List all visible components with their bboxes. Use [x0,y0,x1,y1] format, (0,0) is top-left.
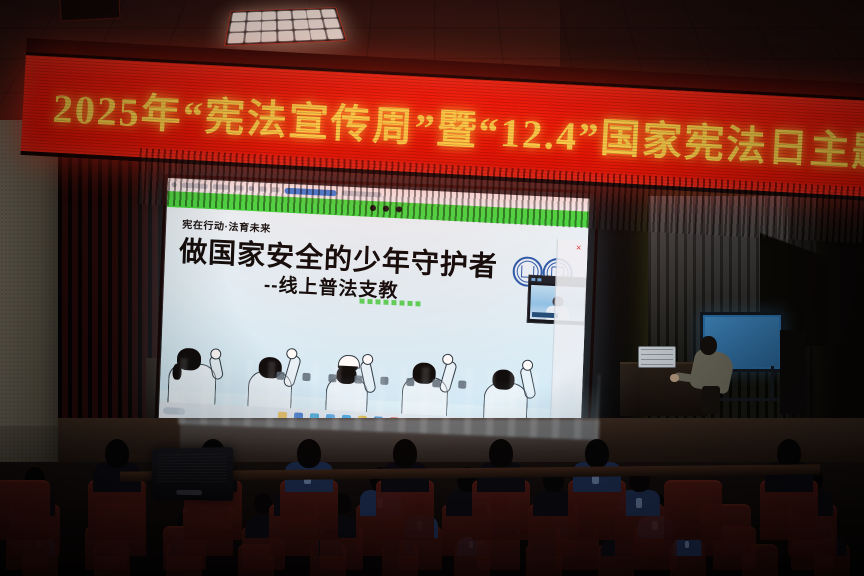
auditorium-seat [0,480,50,540]
audience-head [105,439,129,468]
recessed-grid-light-icon [224,7,347,46]
person-head [700,336,717,355]
light-cell [277,11,291,20]
audience-head [297,439,321,468]
uniform-stripe [636,498,642,508]
light-cell [278,31,294,42]
speaker-badge [176,490,202,495]
light-cell [292,10,307,19]
auditorium-seat [664,480,722,540]
child-fist [362,354,373,366]
person-legs [702,386,720,414]
audience-head [585,439,609,468]
light-cell [230,22,246,32]
light-cell [308,19,324,29]
av-control-panel [638,346,676,368]
light-cell [323,19,339,29]
light-cell [307,10,322,19]
light-cell [245,32,261,43]
light-cell [247,12,261,21]
right-pa-speaker [780,330,806,414]
light-cell [321,9,337,18]
light-cell [232,12,247,21]
light-cell [262,11,276,20]
child-fist [522,360,533,372]
technician-at-table [688,336,734,406]
light-cell [228,32,245,43]
light-cell [293,20,308,30]
uniform-stripe [685,541,689,548]
slide-subtitle: --线上普法支教 [264,270,400,304]
light-cell [262,31,277,42]
light-cell [326,29,343,39]
light-cell [310,29,327,40]
audience-head [393,439,417,468]
light-cell [262,21,276,31]
light-cell [278,20,293,30]
video-control-icon [531,278,535,281]
light-cell [294,30,310,41]
speaker-grill [157,453,226,484]
subtitle-underline [359,298,421,306]
audience-head [489,439,513,468]
light-cell [246,21,261,31]
ceiling-vent [59,0,120,22]
floor-wedge-speaker [152,447,233,501]
control-panel-rows [641,349,673,365]
auditorium-photo: 宪在行动·法育未来 做国家安全的少年守护者 --线上普法支教 ✕ [0,0,864,576]
person-hand [670,374,679,382]
close-icon[interactable]: ✕ [576,244,582,252]
video-control-icon [537,278,541,281]
